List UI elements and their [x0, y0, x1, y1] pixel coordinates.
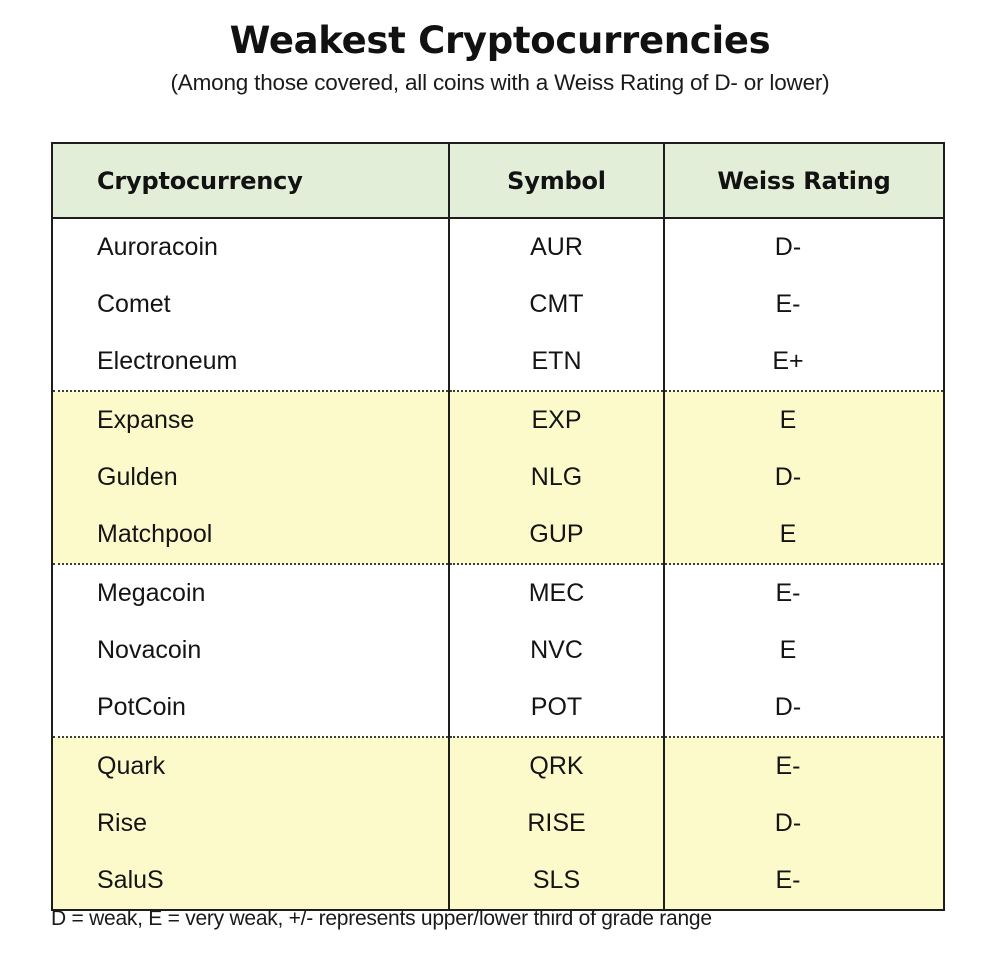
- cell-symbol: NVC: [449, 622, 664, 679]
- table-row: QuarkQRKE-: [52, 737, 944, 795]
- table-row: ExpanseEXPE: [52, 391, 944, 449]
- cell-cryptocurrency: Rise: [52, 795, 449, 852]
- cell-symbol: NLG: [449, 449, 664, 506]
- column-header-symbol: Symbol: [449, 143, 664, 218]
- cell-symbol: RISE: [449, 795, 664, 852]
- cell-weiss-rating: E: [664, 506, 944, 564]
- table-header: Cryptocurrency Symbol Weiss Rating: [52, 143, 944, 218]
- cell-symbol: CMT: [449, 276, 664, 333]
- cell-weiss-rating: E-: [664, 737, 944, 795]
- table-row: MatchpoolGUPE: [52, 506, 944, 564]
- cell-cryptocurrency: Gulden: [52, 449, 449, 506]
- cell-cryptocurrency: Novacoin: [52, 622, 449, 679]
- table-row: NovacoinNVCE: [52, 622, 944, 679]
- cell-weiss-rating: E: [664, 391, 944, 449]
- cell-symbol: ETN: [449, 333, 664, 391]
- cell-cryptocurrency: Electroneum: [52, 333, 449, 391]
- cell-weiss-rating: D-: [664, 679, 944, 737]
- cell-weiss-rating: E-: [664, 276, 944, 333]
- cell-weiss-rating: E-: [664, 564, 944, 622]
- cell-weiss-rating: D-: [664, 449, 944, 506]
- table-header-row: Cryptocurrency Symbol Weiss Rating: [52, 143, 944, 218]
- table-row: RiseRISED-: [52, 795, 944, 852]
- page-subtitle: (Among those covered, all coins with a W…: [0, 70, 1000, 96]
- title-block: Weakest Cryptocurrencies (Among those co…: [0, 0, 1000, 96]
- cell-cryptocurrency: PotCoin: [52, 679, 449, 737]
- cell-weiss-rating: E-: [664, 852, 944, 910]
- table-row: PotCoinPOTD-: [52, 679, 944, 737]
- table-row: MegacoinMECE-: [52, 564, 944, 622]
- column-header-weiss-rating: Weiss Rating: [664, 143, 944, 218]
- cell-symbol: POT: [449, 679, 664, 737]
- cell-symbol: GUP: [449, 506, 664, 564]
- cell-symbol: QRK: [449, 737, 664, 795]
- cell-weiss-rating: D-: [664, 218, 944, 276]
- cell-symbol: SLS: [449, 852, 664, 910]
- ratings-table-container: Cryptocurrency Symbol Weiss Rating Auror…: [51, 142, 943, 911]
- cell-cryptocurrency: Comet: [52, 276, 449, 333]
- cell-weiss-rating: E: [664, 622, 944, 679]
- cell-cryptocurrency: SaluS: [52, 852, 449, 910]
- table-row: SaluSSLSE-: [52, 852, 944, 910]
- footnote: D = weak, E = very weak, +/- represents …: [51, 907, 951, 931]
- cell-symbol: EXP: [449, 391, 664, 449]
- cell-symbol: AUR: [449, 218, 664, 276]
- cell-cryptocurrency: Matchpool: [52, 506, 449, 564]
- table-row: ElectroneumETNE+: [52, 333, 944, 391]
- table-row: CometCMTE-: [52, 276, 944, 333]
- column-header-cryptocurrency: Cryptocurrency: [52, 143, 449, 218]
- table-row: AuroracoinAURD-: [52, 218, 944, 276]
- cell-cryptocurrency: Auroracoin: [52, 218, 449, 276]
- table-row: GuldenNLGD-: [52, 449, 944, 506]
- table-body: AuroracoinAURD-CometCMTE-ElectroneumETNE…: [52, 218, 944, 910]
- cell-weiss-rating: E+: [664, 333, 944, 391]
- cell-cryptocurrency: Expanse: [52, 391, 449, 449]
- cell-cryptocurrency: Megacoin: [52, 564, 449, 622]
- cell-weiss-rating: D-: [664, 795, 944, 852]
- ratings-table: Cryptocurrency Symbol Weiss Rating Auror…: [51, 142, 945, 911]
- cell-symbol: MEC: [449, 564, 664, 622]
- infographic-page: Weakest Cryptocurrencies (Among those co…: [0, 0, 1000, 965]
- page-title: Weakest Cryptocurrencies: [0, 22, 1000, 61]
- cell-cryptocurrency: Quark: [52, 737, 449, 795]
